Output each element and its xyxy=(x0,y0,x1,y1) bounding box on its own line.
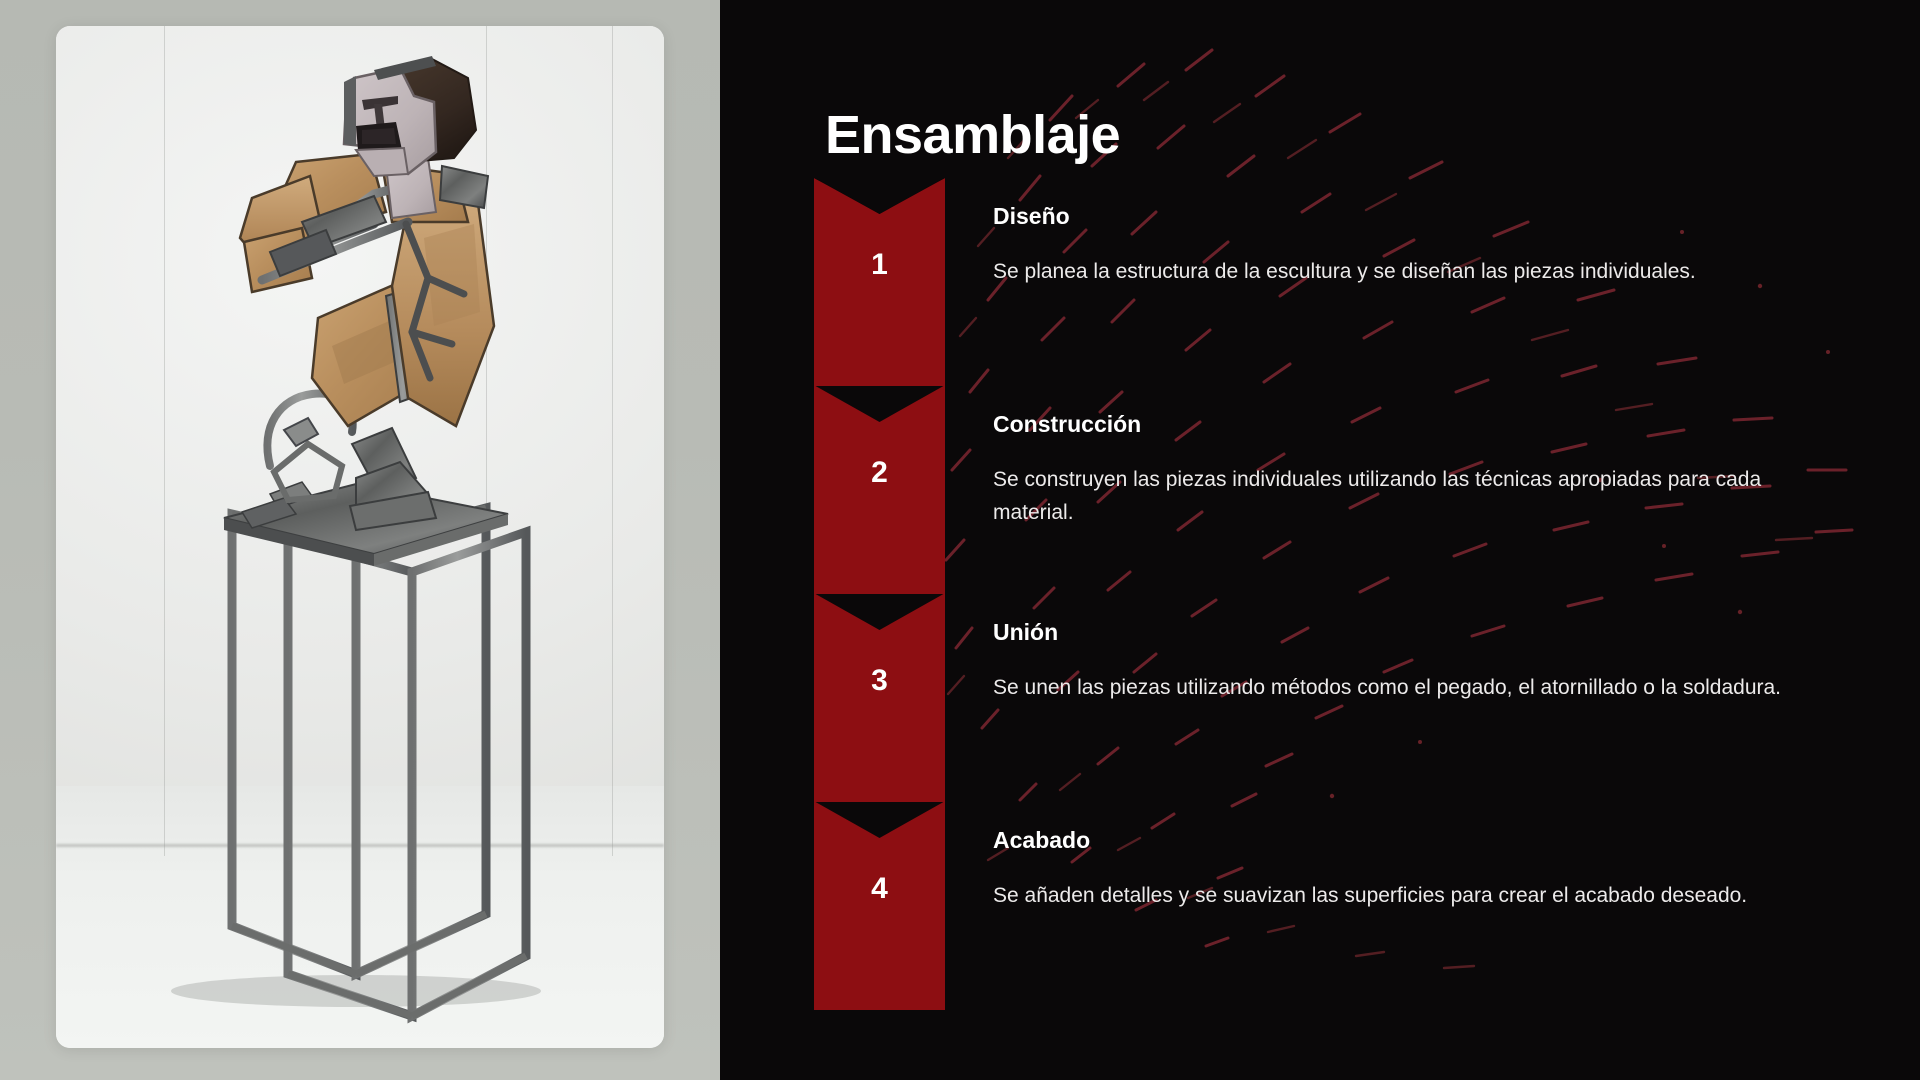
step-number: 1 xyxy=(814,250,945,280)
list-item[interactable]: 3 Unión Se unen las piezas utilizando mé… xyxy=(720,594,1920,802)
sculpture-photo xyxy=(56,26,664,1048)
step-heading: Acabado xyxy=(993,828,1850,853)
step-chevron-badge: 4 xyxy=(814,802,945,1010)
step-text-block: Acabado Se añaden detalles y se suavizan… xyxy=(993,828,1850,912)
step-chevron-badge: 1 xyxy=(814,178,945,386)
step-description: Se construyen las piezas individuales ut… xyxy=(993,463,1813,529)
list-item[interactable]: 2 Construcción Se construyen las piezas … xyxy=(720,386,1920,594)
right-content: Ensamblaje 1 xyxy=(720,0,1920,1080)
slide-root: Ensamblaje 1 xyxy=(0,0,1920,1080)
step-description: Se unen las piezas utilizando métodos co… xyxy=(993,671,1813,704)
photo-panel xyxy=(0,0,720,1080)
sculpture-figure xyxy=(56,26,664,1048)
list-item[interactable]: 4 Acabado Se añaden detalles y se suaviz… xyxy=(720,802,1920,1010)
step-number: 3 xyxy=(814,666,945,696)
step-heading: Diseño xyxy=(993,204,1850,229)
page-title: Ensamblaje xyxy=(825,108,1120,162)
step-chevron-badge: 3 xyxy=(814,594,945,802)
step-text-block: Diseño Se planea la estructura de la esc… xyxy=(993,204,1850,288)
step-number: 4 xyxy=(814,874,945,904)
step-chevron-badge: 2 xyxy=(814,386,945,594)
list-item[interactable]: 1 Diseño Se planea la estructura de la e… xyxy=(720,178,1920,386)
steps-list: 1 Diseño Se planea la estructura de la e… xyxy=(720,178,1920,1010)
step-number: 2 xyxy=(814,458,945,488)
content-panel: Ensamblaje 1 xyxy=(720,0,1920,1080)
step-text-block: Unión Se unen las piezas utilizando méto… xyxy=(993,620,1850,704)
step-heading: Construcción xyxy=(993,412,1850,437)
step-description: Se planea la estructura de la escultura … xyxy=(993,255,1813,288)
step-heading: Unión xyxy=(993,620,1850,645)
step-text-block: Construcción Se construyen las piezas in… xyxy=(993,412,1850,530)
step-description: Se añaden detalles y se suavizan las sup… xyxy=(993,879,1813,912)
